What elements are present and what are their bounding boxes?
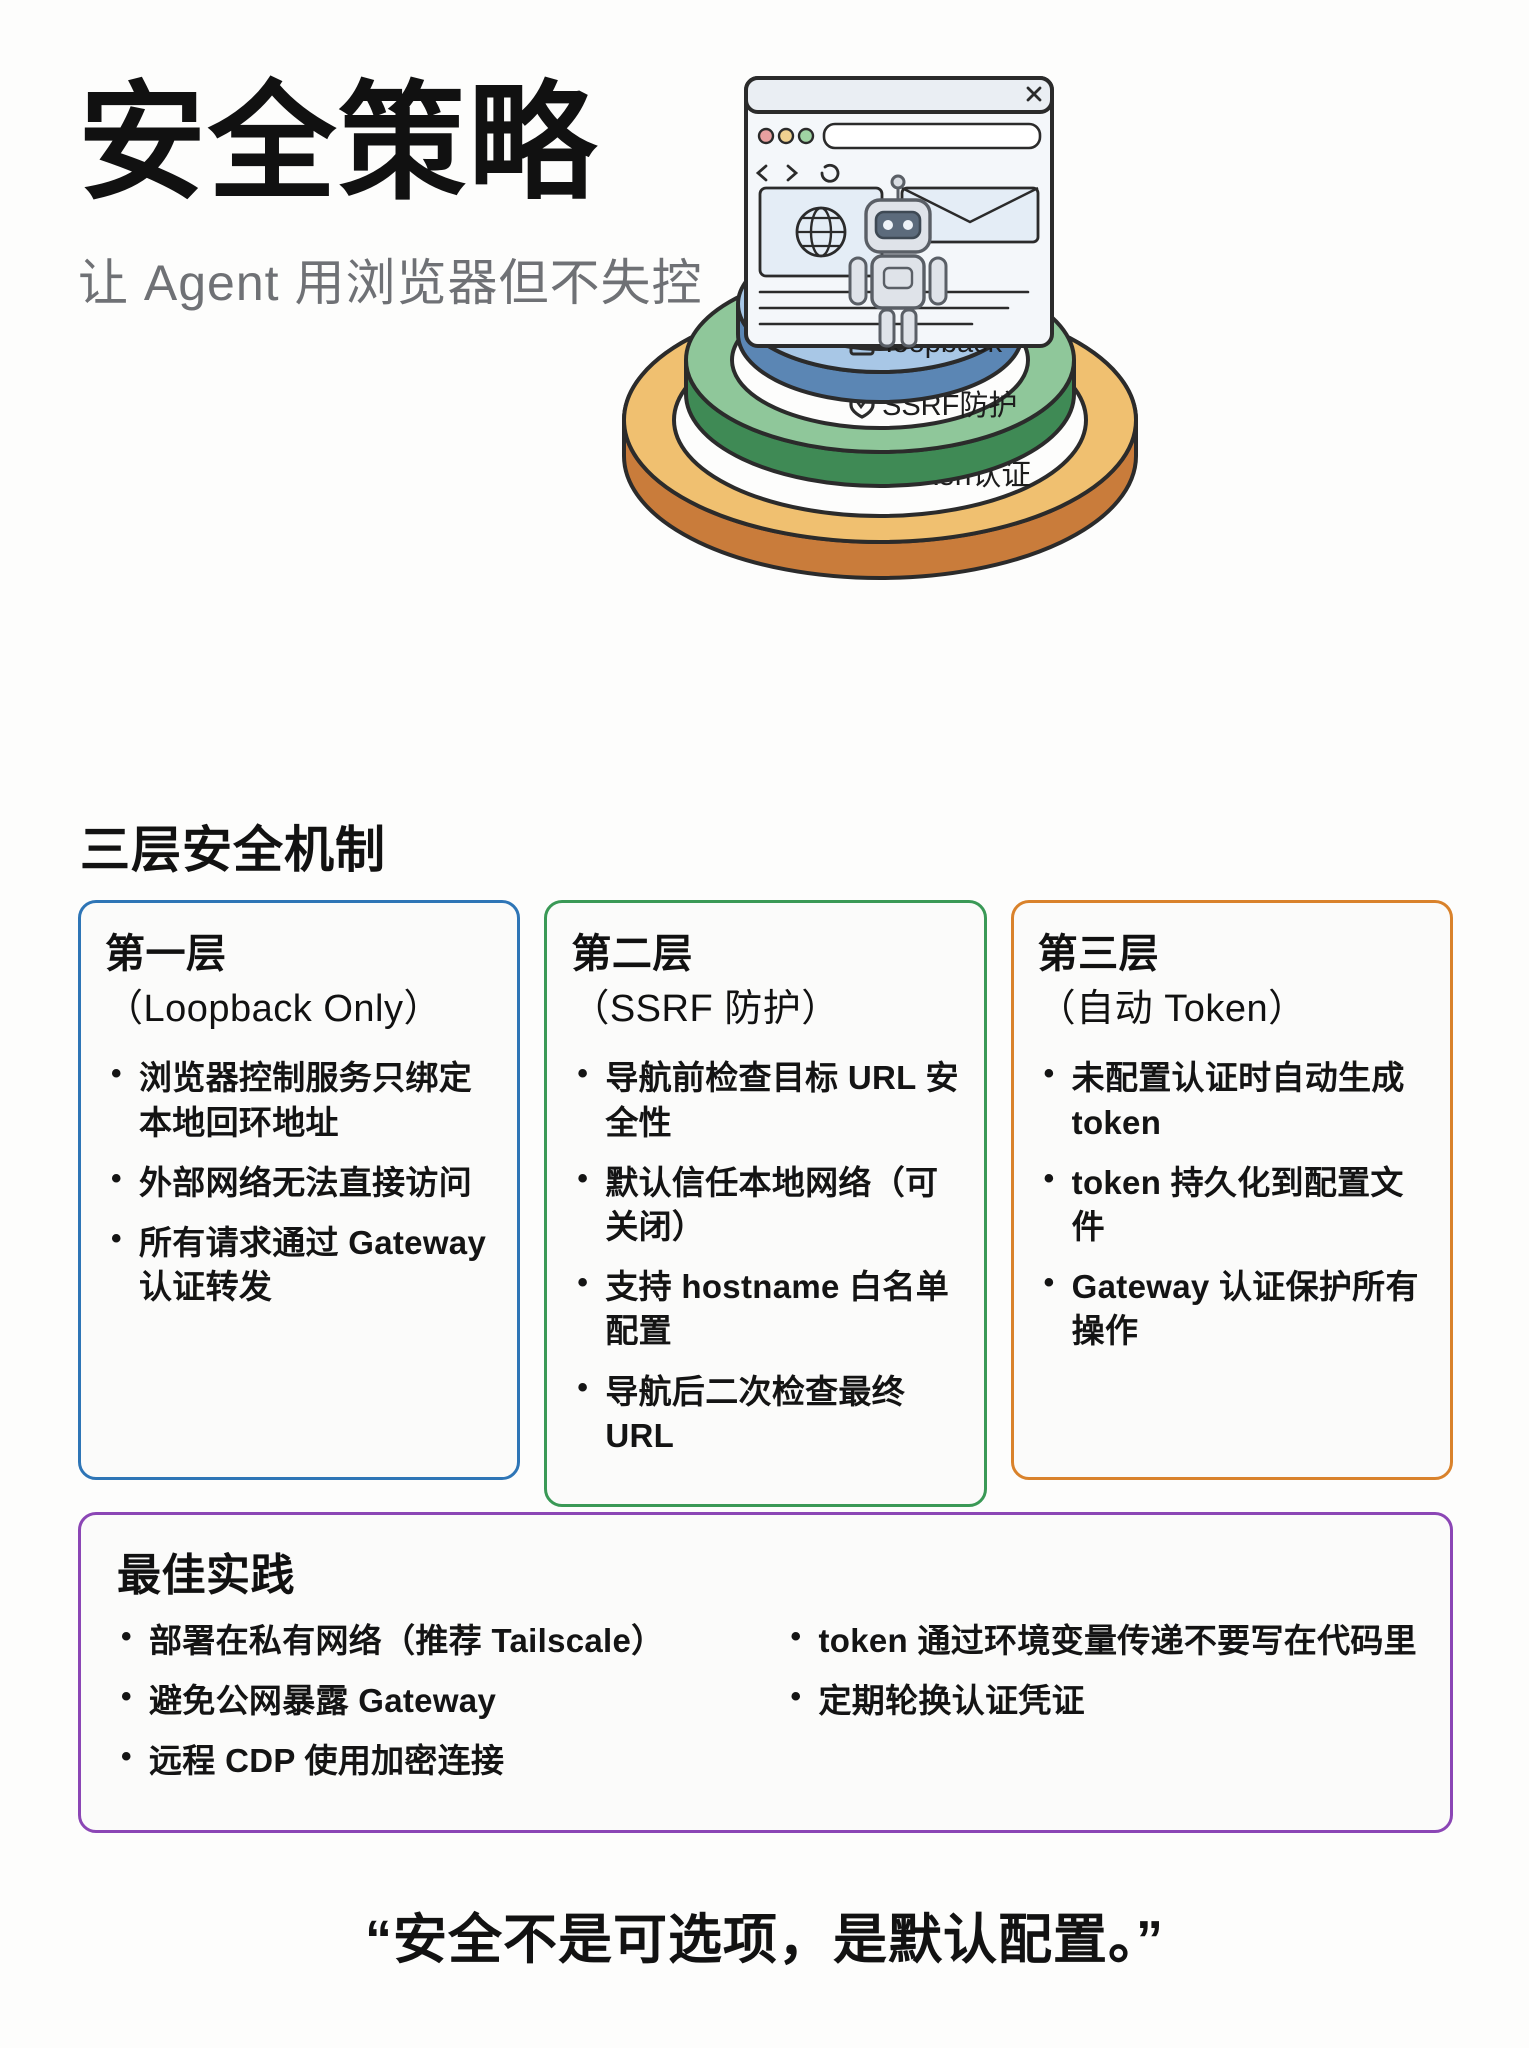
layer-card-3-title: 第三层 (1038, 929, 1426, 979)
best-practices-columns: 部署在私有网络（推荐 Tailscale） 避免公网暴露 Gateway 远程 … (109, 1619, 1422, 1800)
layer-cards-row: 第一层 （Loopback Only） 浏览器控制服务只绑定本地回环地址 外部网… (78, 900, 1453, 1507)
list-item: Gateway 认证保护所有操作 (1072, 1265, 1426, 1353)
list-item: token 持久化到配置文件 (1072, 1161, 1426, 1249)
list-item: 外部网络无法直接访问 (139, 1161, 493, 1205)
layer-card-2-subtitle: （SSRF 防护） (571, 985, 959, 1034)
best-practices-left-list: 部署在私有网络（推荐 Tailscale） 避免公网暴露 Gateway 远程 … (109, 1619, 753, 1800)
list-item: 支持 hostname 白名单配置 (605, 1265, 959, 1353)
list-item: 部署在私有网络（推荐 Tailscale） (149, 1619, 753, 1663)
list-item: 导航后二次检查最终 URL (605, 1370, 959, 1458)
best-practices-right-list: token 通过环境变量传递不要写在代码里 定期轮换认证凭证 (779, 1619, 1423, 1800)
list-item: 导航前检查目标 URL 安全性 (605, 1056, 959, 1144)
layer-card-1-subtitle: （Loopback Only） (105, 985, 493, 1034)
list-item: 避免公网暴露 Gateway (149, 1679, 753, 1723)
list-item: 浏览器控制服务只绑定本地回环地址 (139, 1056, 493, 1144)
poster-root: 安全策略 让 Agent 用浏览器但不失控 token认证 (0, 0, 1529, 2048)
list-item: 所有请求通过 Gateway 认证转发 (139, 1221, 493, 1309)
best-practices-panel: 最佳实践 部署在私有网络（推荐 Tailscale） 避免公网暴露 Gatewa… (78, 1512, 1453, 1833)
layer-card-1-bullets: 浏览器控制服务只绑定本地回环地址 外部网络无法直接访问 所有请求通过 Gatew… (105, 1056, 493, 1309)
layer-card-3: 第三层 （自动 Token） 未配置认证时自动生成 token token 持久… (1011, 900, 1453, 1480)
section-heading-layers: 三层安全机制 (80, 810, 386, 882)
layer-card-2: 第二层 （SSRF 防护） 导航前检查目标 URL 安全性 默认信任本地网络（可… (544, 900, 986, 1507)
list-item: 远程 CDP 使用加密连接 (149, 1739, 753, 1783)
list-item: token 通过环境变量传递不要写在代码里 (819, 1619, 1423, 1663)
list-item: 未配置认证时自动生成 token (1072, 1056, 1426, 1144)
layer-card-1: 第一层 （Loopback Only） 浏览器控制服务只绑定本地回环地址 外部网… (78, 900, 520, 1480)
layer-card-3-bullets: 未配置认证时自动生成 token token 持久化到配置文件 Gateway … (1038, 1056, 1426, 1353)
layer-card-2-title: 第二层 (571, 929, 959, 979)
layer-card-2-bullets: 导航前检查目标 URL 安全性 默认信任本地网络（可关闭） 支持 hostnam… (571, 1056, 959, 1458)
closing-quote: “安全不是可选项，是默认配置。” (0, 1895, 1529, 1974)
security-rings-illustration: token认证 SSRF防护 (610, 60, 1150, 605)
list-item: 默认信任本地网络（可关闭） (605, 1161, 959, 1249)
layer-card-1-title: 第一层 (105, 929, 493, 979)
best-practices-title: 最佳实践 (117, 1539, 1422, 1603)
layer-card-3-subtitle: （自动 Token） (1038, 985, 1426, 1034)
list-item: 定期轮换认证凭证 (819, 1679, 1423, 1723)
